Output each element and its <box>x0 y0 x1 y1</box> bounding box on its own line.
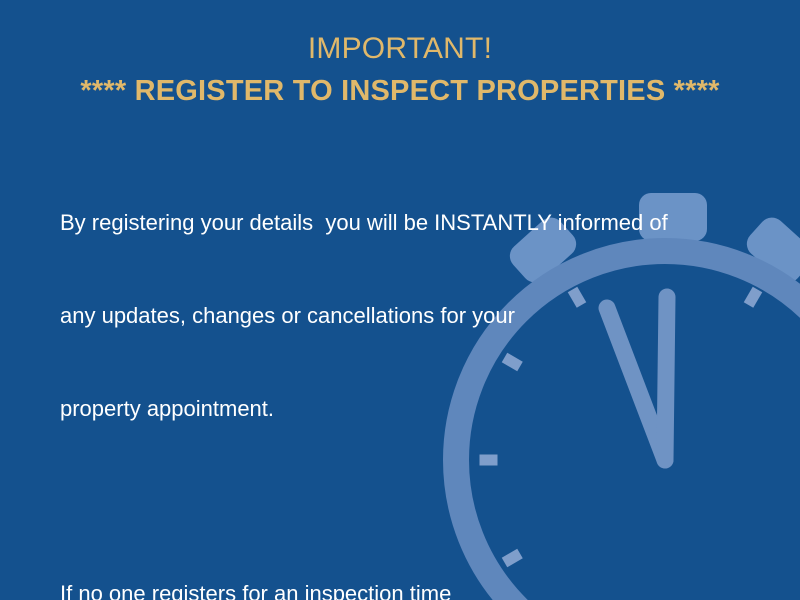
paragraph1-line3: property appointment. <box>60 393 720 424</box>
paragraph1-line2: any updates, changes or cancellations fo… <box>60 300 720 331</box>
paragraph1-line1: By registering your details you will be … <box>60 207 720 238</box>
paragraph2-line1: If no one registers for an inspection ti… <box>60 578 720 600</box>
heading-important: IMPORTANT! <box>0 30 800 68</box>
body-block: By registering your details you will be … <box>60 145 720 600</box>
slide-content: IMPORTANT! **** REGISTER TO INSPECT PROP… <box>0 0 800 600</box>
heading-block: IMPORTANT! **** REGISTER TO INSPECT PROP… <box>0 30 800 110</box>
heading-register-to-inspect: **** REGISTER TO INSPECT PROPERTIES **** <box>0 72 800 110</box>
paragraph-registering-details: By registering your details you will be … <box>60 145 720 486</box>
paragraph-no-registration-warning: If no one registers for an inspection ti… <box>60 516 720 600</box>
promotional-slide: IMPORTANT! **** REGISTER TO INSPECT PROP… <box>0 0 800 600</box>
